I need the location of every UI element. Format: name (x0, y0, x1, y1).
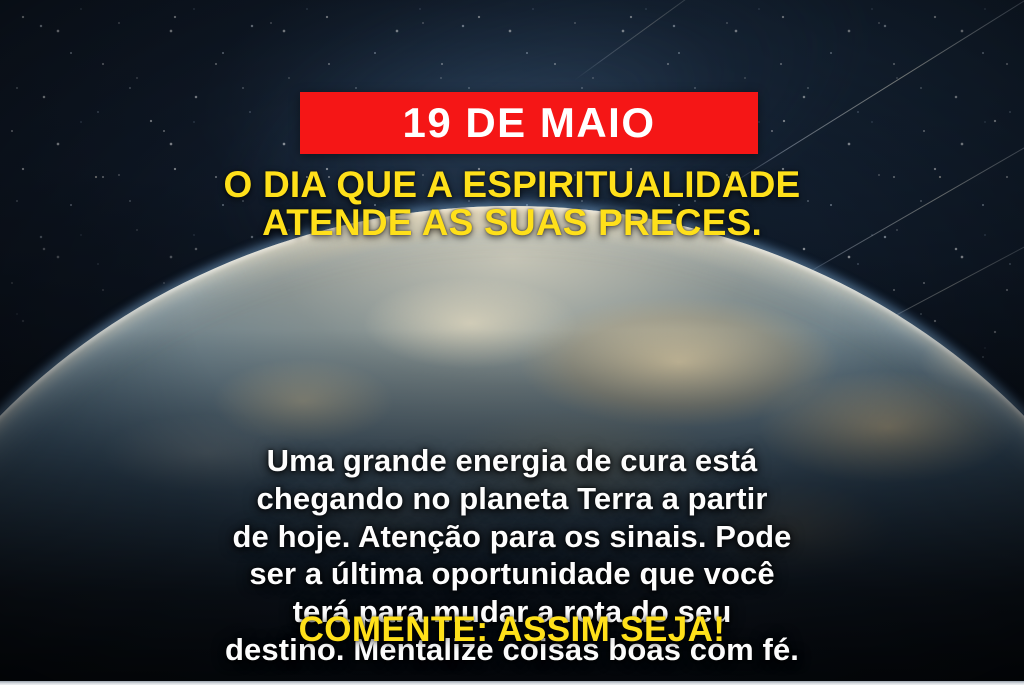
headline: O DIA QUE A ESPIRITUALIDADE ATENDE AS SU… (0, 166, 1024, 243)
body-line-4: ser a última oportunidade que você (0, 555, 1024, 593)
headline-line-2: ATENDE AS SUAS PRECES. (0, 204, 1024, 242)
date-banner: 19 DE MAIO (300, 92, 758, 154)
poster-content: 19 DE MAIO O DIA QUE A ESPIRITUALIDADE A… (0, 0, 1024, 685)
poster-canvas: 19 DE MAIO O DIA QUE A ESPIRITUALIDADE A… (0, 0, 1024, 685)
bottom-edge-strip (0, 681, 1024, 685)
date-banner-label: 19 DE MAIO (402, 102, 655, 144)
headline-line-1: O DIA QUE A ESPIRITUALIDADE (0, 166, 1024, 204)
call-to-action-text: COMENTE: ASSIM SEJA! (0, 612, 1024, 647)
body-line-1: Uma grande energia de cura está (0, 442, 1024, 480)
body-line-3: de hoje. Atenção para os sinais. Pode (0, 518, 1024, 556)
body-line-2: chegando no planeta Terra a partir (0, 480, 1024, 518)
